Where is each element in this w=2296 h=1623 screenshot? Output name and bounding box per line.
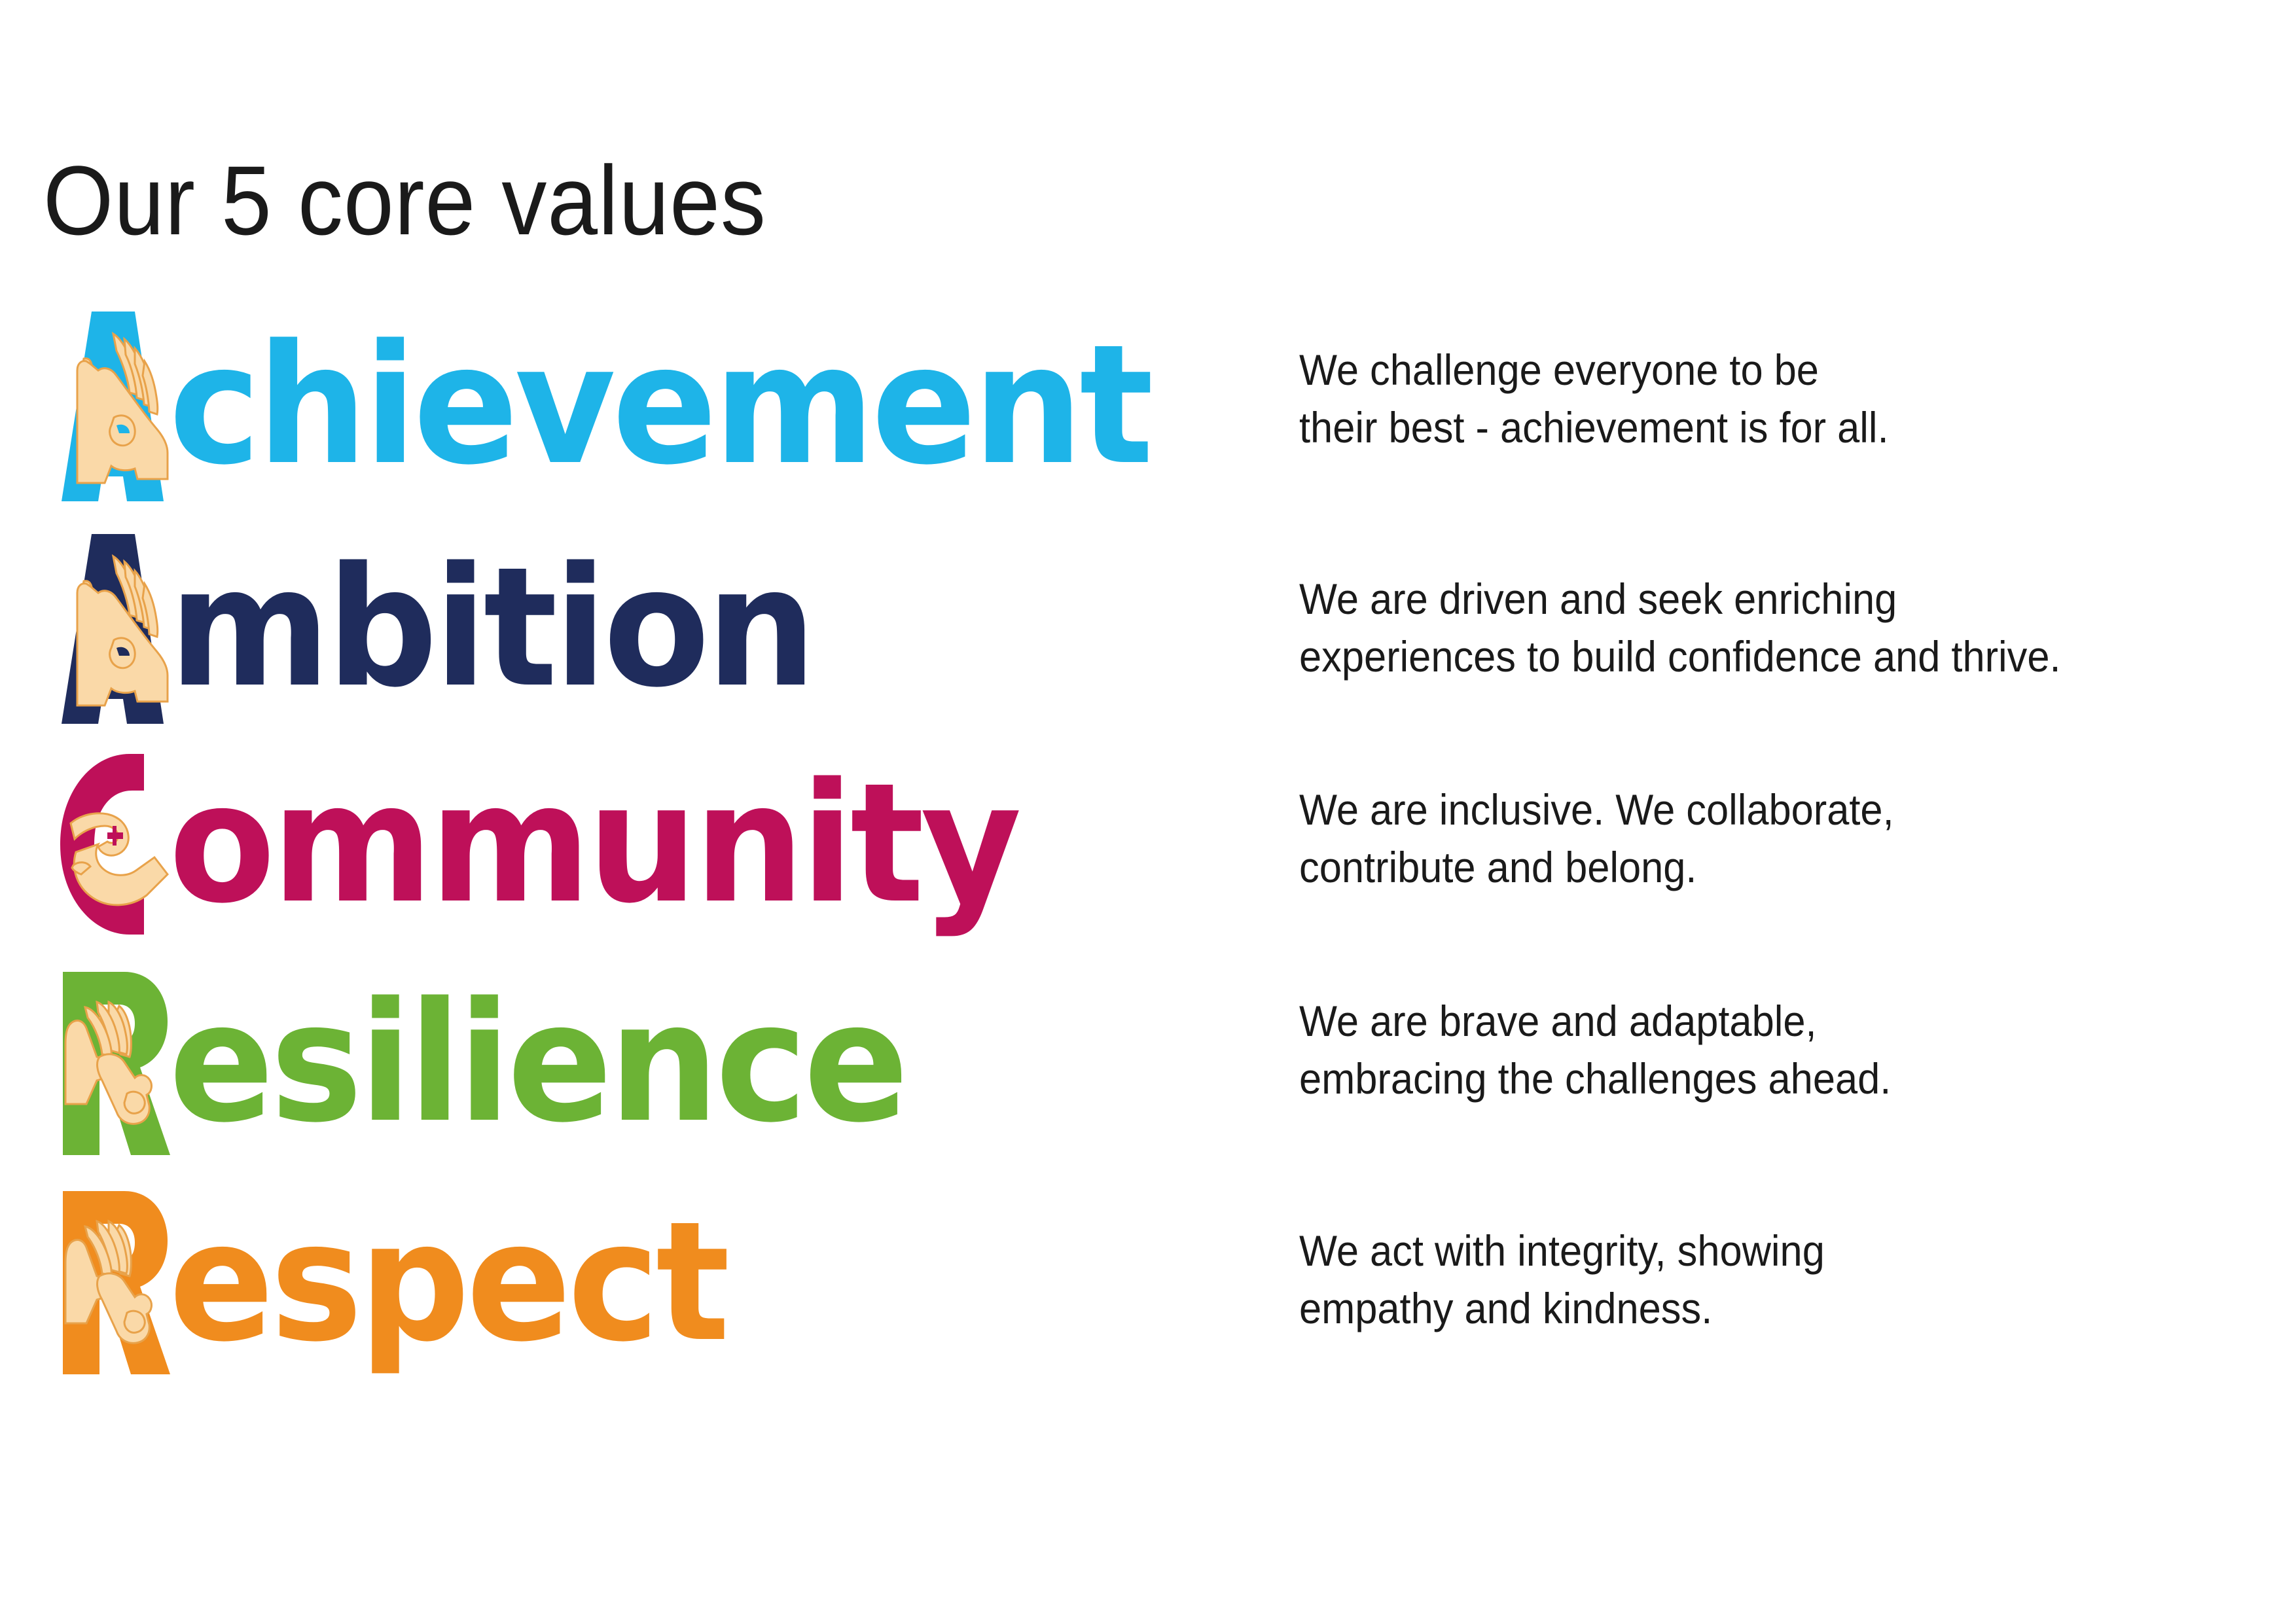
- description-line: their best - achievement is for all.: [1299, 399, 2182, 457]
- description-line: We challenge everyone to be: [1299, 342, 2182, 399]
- value-word-text: mbition: [169, 530, 813, 726]
- value-description-respect: We act with integrity, showing empathy a…: [1299, 1222, 2182, 1338]
- bsl-letter-r-hand-icon: [51, 965, 175, 1162]
- description-line: embracing the challenges ahead.: [1299, 1050, 2182, 1108]
- value-word-text: chievement: [169, 308, 1150, 504]
- value-word-text: esilience: [169, 965, 905, 1162]
- description-line: experiences to build confidence and thri…: [1299, 628, 2182, 686]
- description-line: We act with integrity, showing: [1299, 1222, 2182, 1280]
- value-word-respect: espect: [51, 1185, 762, 1381]
- description-line: We are inclusive. We collaborate,: [1299, 781, 2182, 839]
- value-word-text: ommunity: [169, 746, 1018, 942]
- core-values-list: chievement We challenge everyone to be t…: [0, 0, 2296, 1623]
- description-line: We are brave and adaptable,: [1299, 993, 2182, 1050]
- value-description-resilience: We are brave and adaptable, embracing th…: [1299, 993, 2182, 1108]
- value-word-resilience: esilience: [51, 965, 952, 1162]
- value-description-ambition: We are driven and seek enriching experie…: [1299, 571, 2182, 686]
- bsl-letter-a-hand-icon: [51, 308, 175, 504]
- bsl-letter-c-hand-icon: [51, 746, 175, 942]
- description-line: empathy and kindness.: [1299, 1280, 2182, 1338]
- bsl-letter-r-hand-icon: [51, 1185, 175, 1381]
- bsl-letter-a-hand-icon: [51, 530, 175, 726]
- value-word-achievement: chievement: [51, 308, 1213, 504]
- value-description-achievement: We challenge everyone to be their best -…: [1299, 342, 2182, 457]
- description-line: contribute and belong.: [1299, 839, 2182, 897]
- value-word-ambition: mbition: [51, 530, 854, 726]
- description-line: We are driven and seek enriching: [1299, 571, 2182, 628]
- value-word-text: espect: [169, 1185, 726, 1381]
- value-word-community: ommunity: [51, 746, 1072, 942]
- value-description-community: We are inclusive. We collaborate, contri…: [1299, 781, 2182, 897]
